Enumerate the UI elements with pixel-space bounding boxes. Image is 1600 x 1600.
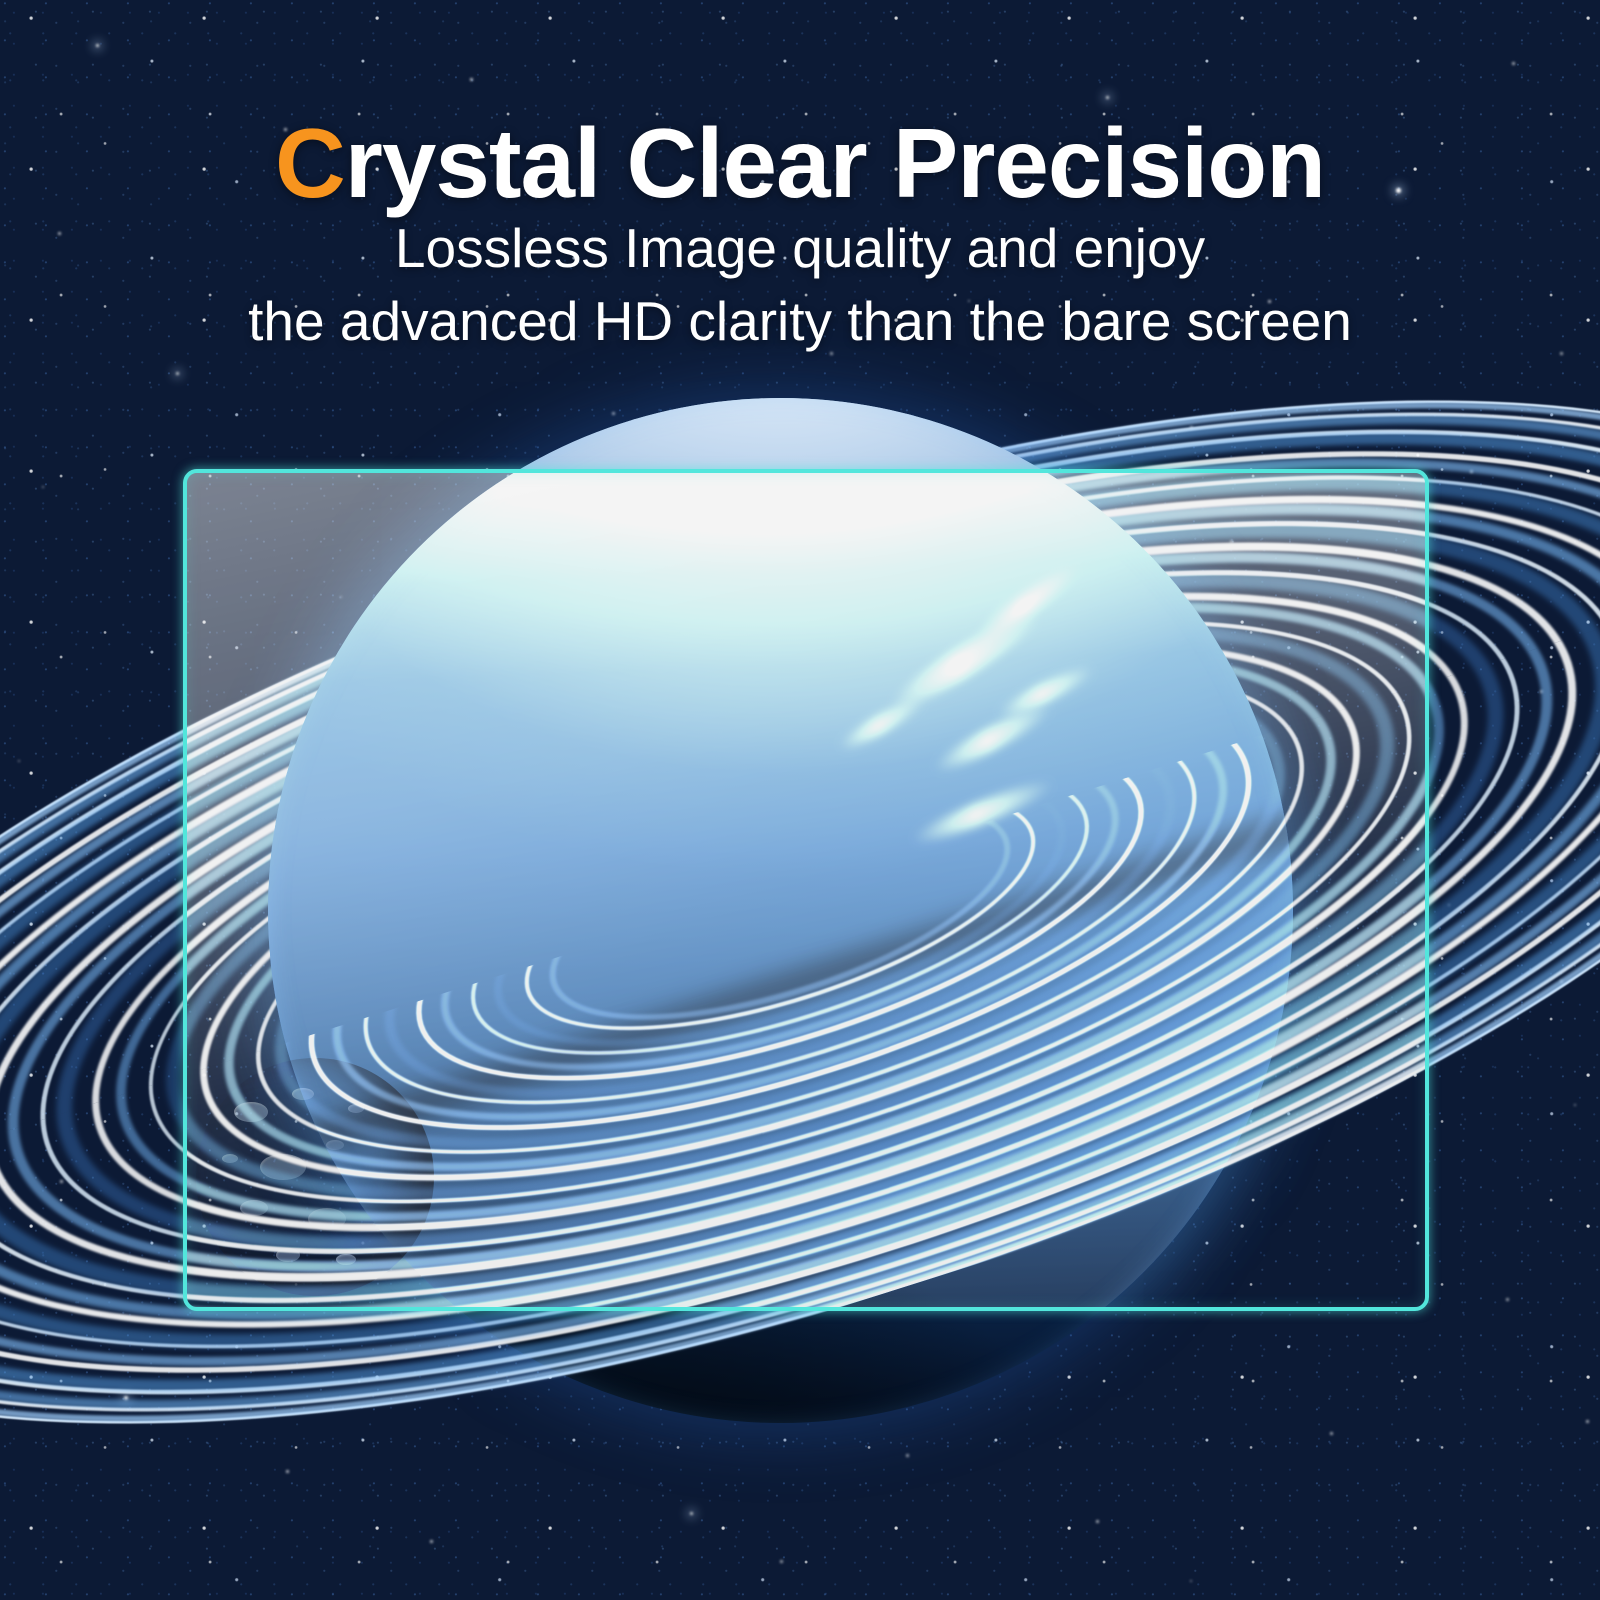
protected-screen-region (183, 469, 1429, 1311)
headline-rest: rystal Clear Precision (345, 108, 1325, 218)
subtitle-line-2: the advanced HD clarity than the bare sc… (0, 285, 1600, 358)
glass-clarity-wash (183, 469, 1429, 1311)
page-title: Crystal Clear Precision (0, 112, 1600, 216)
hero-banner: Crystal Clear Precision Lossless Image q… (0, 0, 1600, 1600)
subtitle-line-1: Lossless Image quality and enjoy (0, 212, 1600, 285)
subtitle: Lossless Image quality and enjoy the adv… (0, 212, 1600, 358)
headline-accent-letter: C (275, 108, 345, 218)
